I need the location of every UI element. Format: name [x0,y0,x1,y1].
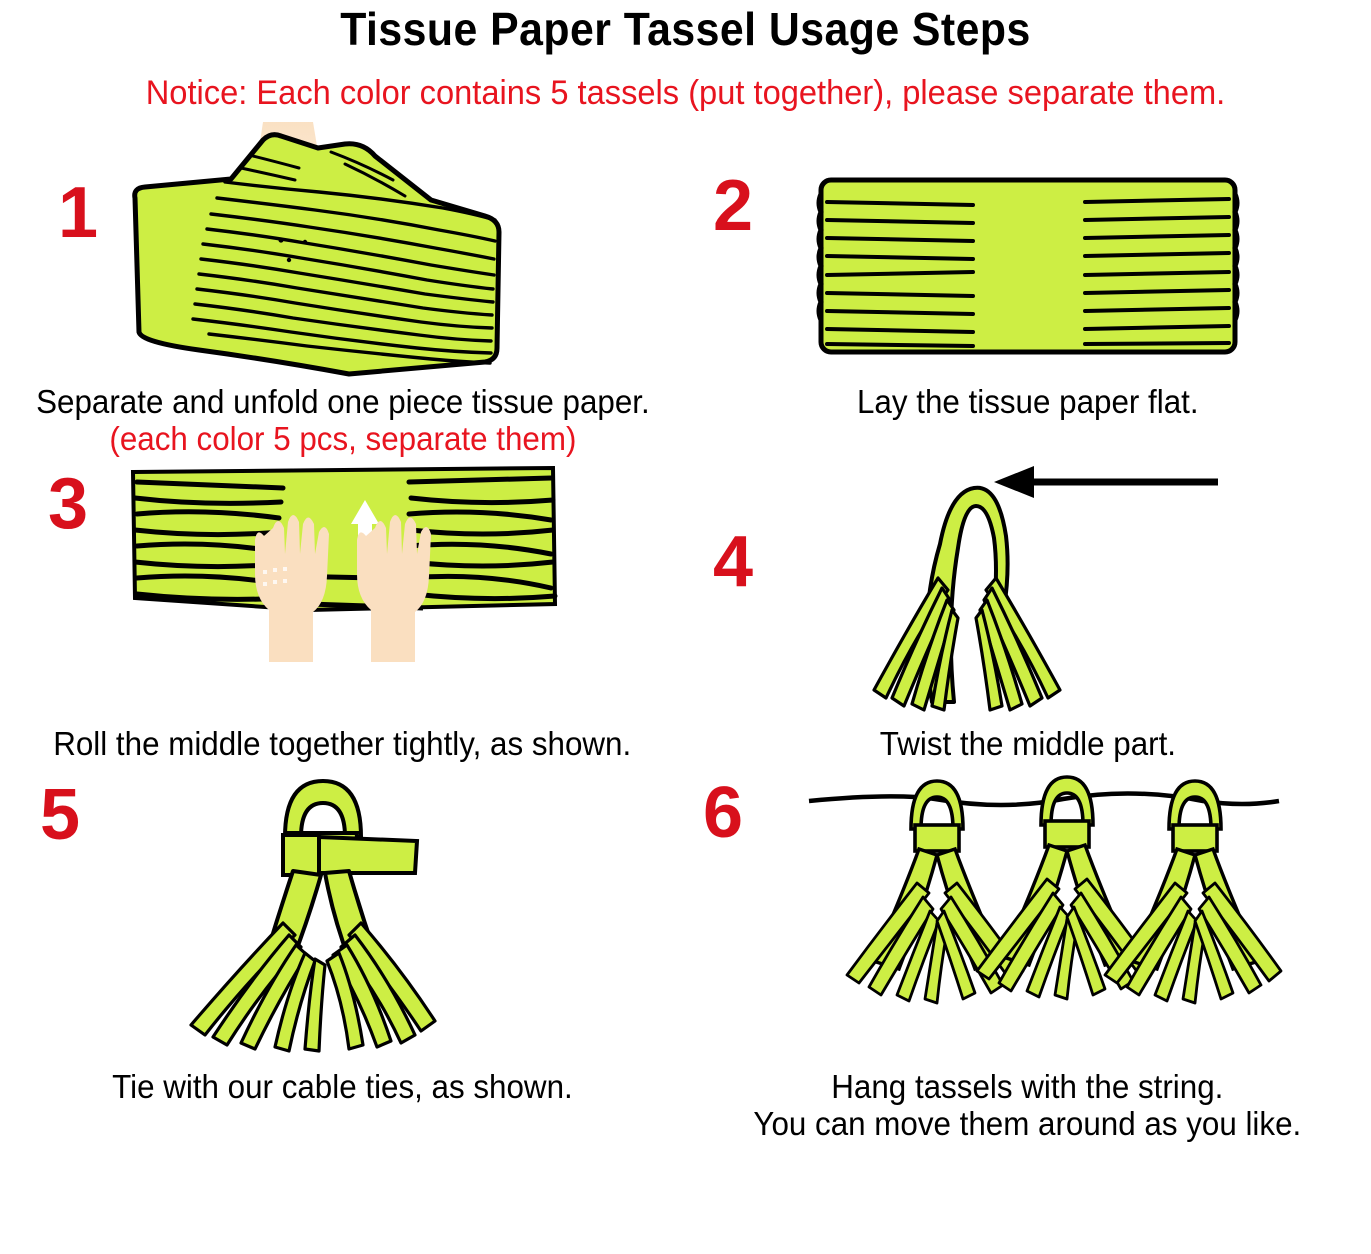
step-number-1: 1 [58,177,98,249]
step-1-art-wrap: 1 [0,122,685,380]
illustration-folded-tassel-with-twisted-loop-and-left-arrow [798,458,1258,720]
step-1-caption: Separate and unfold one piece tissue pap… [36,384,650,421]
step-6-caption-sub: You can move them around as you like. [754,1106,1302,1143]
steps-row-2: 3 [0,458,1371,763]
tissue-sheet-rolling [133,468,555,610]
step-1-captions: Separate and unfold one piece tissue pap… [20,384,666,458]
notice-text: Notice: Each color contains 5 tassels (p… [27,76,1343,110]
illustration-two-hands-rolling-middle-with-up-arrow [123,458,563,718]
step-4-art-wrap: 4 [685,458,1370,720]
illustration-three-tassels-hanging-on-string [803,763,1303,1061]
step-3-art-wrap: 3 [0,458,685,720]
step-5-captions: Tie with our cable ties, as shown. [100,1069,585,1106]
tassel-fringe-strands [191,923,435,1051]
cable-tie-band-1 [915,825,959,851]
illustration-hand-holding-fringed-tissue-paper [113,122,573,380]
hanging-tassel-3 [1105,781,1281,1003]
step-2-captions: Lay the tissue paper flat. [848,384,1208,421]
step-panel-6: 6 [685,763,1370,1143]
steps-row-1: 1 [0,122,1371,458]
step-1-caption-sub: (each color 5 pcs, separate them) [36,421,650,458]
step-number-3: 3 [48,468,88,540]
illustration-tassel-tied-with-cable-tie [133,763,553,1061]
step-5-art-wrap: 5 [0,763,685,1063]
left-arrow-icon [994,466,1218,498]
cable-tie-icon [283,835,417,875]
step-5-caption: Tie with our cable ties, as shown. [112,1069,573,1106]
cable-tie-band-2 [1045,821,1089,847]
page-title: Tissue Paper Tassel Usage Steps [48,0,1323,52]
step-2-art-wrap: 2 [685,122,1370,380]
step-panel-1: 1 [0,122,685,458]
step-number-2: 2 [713,170,753,242]
step-number-6: 6 [703,777,743,849]
step-3-captions: Roll the middle together tightly, as sho… [38,726,646,763]
step-panel-2: 2 [685,122,1370,458]
tassel-loop [285,781,361,837]
step-4-captions: Twist the middle part. [872,726,1184,763]
step-panel-3: 3 [0,458,685,763]
steps-row-3: 5 [0,763,1371,1143]
tassel-fringe-strands [874,578,1060,710]
instruction-sheet: Tissue Paper Tassel Usage Steps Notice: … [0,0,1371,1254]
step-number-5: 5 [40,779,80,851]
step-panel-5: 5 [0,763,685,1143]
step-number-4: 4 [713,526,753,598]
step-6-caption: Hang tassels with the string. [754,1069,1302,1106]
step-3-caption: Roll the middle together tightly, as sho… [54,726,632,763]
step-2-caption: Lay the tissue paper flat. [857,384,1199,421]
step-4-caption: Twist the middle part. [879,726,1175,763]
cable-tie-band-3 [1173,825,1217,851]
step-6-captions: Hang tassels with the string. You can mo… [739,1069,1316,1143]
step-panel-4: 4 [685,458,1370,763]
steps-grid: 1 [0,122,1371,1143]
step-6-art-wrap: 6 [685,763,1370,1063]
